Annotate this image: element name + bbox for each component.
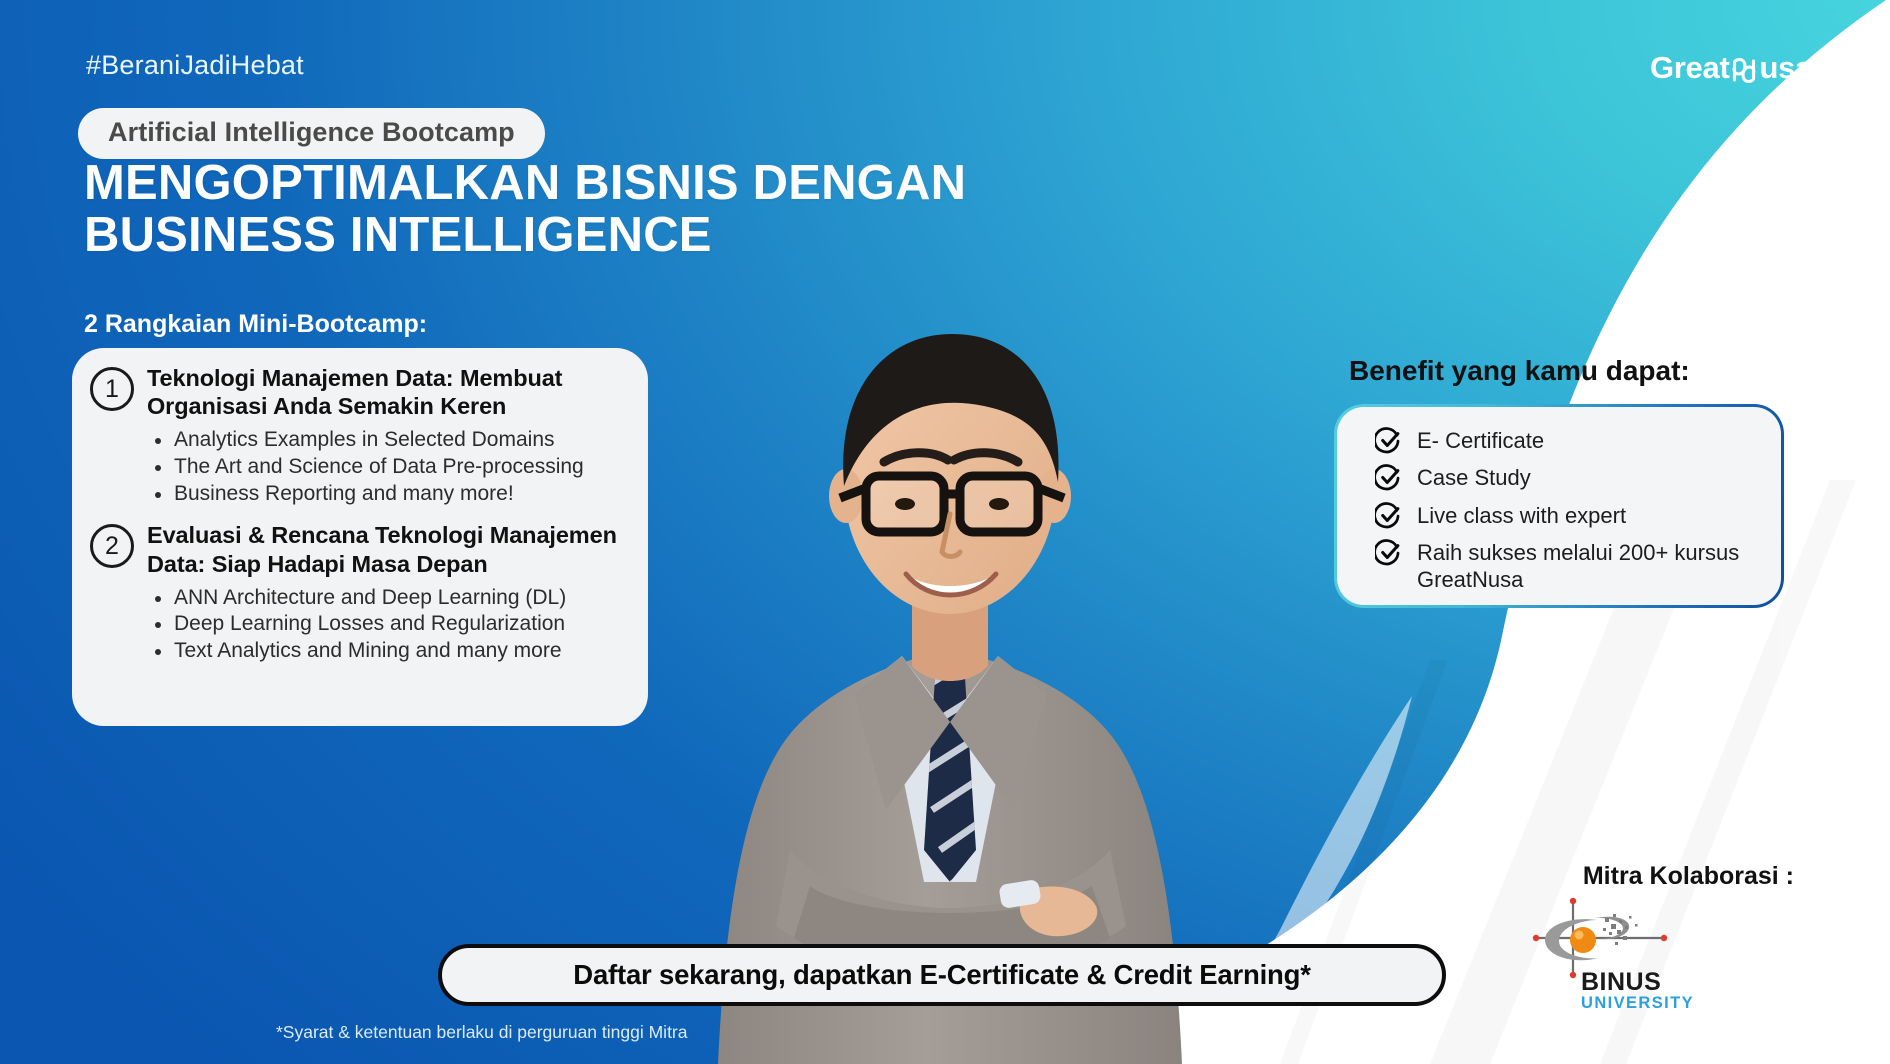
benefit-item: Raih sukses melalui 200+ kursus GreatNus… bbox=[1375, 539, 1763, 593]
page-title: MENGOPTIMALKAN BISNIS DENGAN BUSINESS IN… bbox=[84, 158, 966, 262]
register-cta-button[interactable]: Daftar sekarang, dapatkan E-Certificate … bbox=[438, 944, 1446, 1006]
module-title: Evaluasi & Rencana Teknologi Manajemen D… bbox=[147, 521, 628, 577]
check-circle-icon bbox=[1375, 539, 1402, 566]
module-title: Teknologi Manajemen Data: Membuat Organi… bbox=[147, 364, 628, 420]
module-number-badge: 1 bbox=[90, 367, 134, 411]
benefits-box: E- Certificate Case Study Live class wit… bbox=[1334, 404, 1784, 608]
list-item: Analytics Examples in Selected Domains bbox=[147, 427, 628, 454]
benefit-label: E- Certificate bbox=[1417, 427, 1544, 454]
hashtag: #BeraniJadiHebat bbox=[86, 50, 304, 81]
partner-heading: Mitra Kolaborasi : bbox=[1583, 862, 1794, 891]
benefit-label: Case Study bbox=[1417, 464, 1531, 491]
check-circle-icon bbox=[1375, 464, 1402, 491]
module-topic-list: Analytics Examples in Selected Domains T… bbox=[147, 427, 628, 507]
module-topic-list: ANN Architecture and Deep Learning (DL) … bbox=[147, 585, 628, 665]
university-wordmark: UNIVERSITY bbox=[1581, 994, 1694, 1012]
greatnusa-logo: Great usa bbox=[1650, 50, 1812, 86]
infinity-n-icon bbox=[1729, 55, 1759, 86]
benefit-item: E- Certificate bbox=[1375, 427, 1763, 454]
check-circle-icon bbox=[1375, 502, 1402, 529]
headline-line-1: MENGOPTIMALKAN BISNIS DENGAN bbox=[84, 158, 966, 210]
promo-banner: #BeraniJadiHebat Great usa Artificial In… bbox=[0, 0, 1890, 1064]
list-item: The Art and Science of Data Pre-processi… bbox=[147, 454, 628, 481]
list-item: Deep Learning Losses and Regularization bbox=[147, 611, 628, 638]
module-item: 2 Evaluasi & Rencana Teknologi Manajemen… bbox=[90, 521, 628, 664]
terms-footnote: *Syarat & ketentuan berlaku di perguruan… bbox=[276, 1022, 688, 1043]
binus-wordmark: BINUS bbox=[1581, 968, 1661, 996]
logo-text-after: usa bbox=[1759, 50, 1812, 86]
module-item: 1 Teknologi Manajemen Data: Membuat Orga… bbox=[90, 364, 628, 507]
benefit-label: Raih sukses melalui 200+ kursus GreatNus… bbox=[1417, 539, 1763, 593]
benefits-heading: Benefit yang kamu dapat: bbox=[1349, 355, 1690, 387]
list-item: Business Reporting and many more! bbox=[147, 481, 628, 508]
check-circle-icon bbox=[1375, 427, 1402, 454]
series-subheading: 2 Rangkaian Mini-Bootcamp: bbox=[84, 310, 427, 339]
module-number-badge: 2 bbox=[90, 524, 134, 568]
program-badge: Artificial Intelligence Bootcamp bbox=[78, 108, 545, 159]
list-item: ANN Architecture and Deep Learning (DL) bbox=[147, 585, 628, 612]
benefit-item: Case Study bbox=[1375, 464, 1763, 491]
binus-university-logo: BINUS UNIVERSITY bbox=[1525, 898, 1725, 1013]
list-item: Text Analytics and Mining and many more bbox=[147, 638, 628, 665]
headline-line-2: BUSINESS INTELLIGENCE bbox=[84, 210, 966, 262]
logo-text-before: Great bbox=[1650, 50, 1729, 86]
benefit-label: Live class with expert bbox=[1417, 502, 1626, 529]
benefit-item: Live class with expert bbox=[1375, 502, 1763, 529]
curriculum-card: 1 Teknologi Manajemen Data: Membuat Orga… bbox=[72, 348, 648, 726]
